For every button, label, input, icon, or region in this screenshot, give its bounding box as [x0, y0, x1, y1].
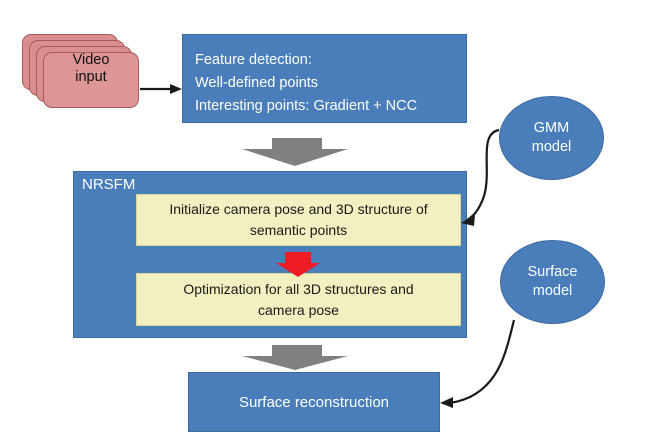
- surface-model-line2: model: [528, 282, 578, 301]
- connector-nrsfm-to-surface-reconstruction: [242, 345, 348, 370]
- optimization-step-line2: camera pose: [173, 300, 423, 321]
- optimization-step-box: Optimization for all 3D structures and c…: [136, 273, 461, 326]
- surface-reconstruction-label: Surface reconstruction: [189, 373, 439, 431]
- surface-model-line1: Surface: [528, 263, 578, 282]
- connector-video-to-feature: [140, 84, 182, 94]
- feature-detection-box: Feature detection: Well-defined points I…: [182, 34, 467, 123]
- gmm-model-line1: GMM: [532, 119, 572, 138]
- feature-detection-line1: Feature detection:: [195, 49, 460, 72]
- video-input-label-line2: input: [43, 69, 139, 86]
- initialize-step-text: Initialize camera pose and 3D structure …: [149, 199, 447, 241]
- gmm-model-line2: model: [532, 138, 572, 157]
- surface-reconstruction-box: Surface reconstruction: [188, 372, 440, 432]
- feature-detection-line2: Well-defined points: [195, 72, 460, 95]
- video-input-label: Video input: [43, 52, 139, 86]
- gmm-model-label: GMM model: [532, 119, 572, 157]
- initialize-step-line1: Initialize camera pose and 3D structure …: [159, 199, 437, 220]
- feature-detection-text: Feature detection: Well-defined points I…: [195, 49, 460, 118]
- gmm-model-ellipse: GMM model: [499, 96, 604, 180]
- nrsfm-container-label: NRSFM: [82, 176, 135, 193]
- feature-detection-line3: Interesting points: Gradient + NCC: [195, 95, 460, 118]
- surface-model-label: Surface model: [528, 263, 578, 301]
- initialize-step-line2: semantic points: [159, 220, 437, 241]
- surface-model-ellipse: Surface model: [500, 240, 605, 324]
- video-input-label-line1: Video: [43, 52, 139, 69]
- initialize-step-box: Initialize camera pose and 3D structure …: [136, 194, 461, 246]
- connector-feature-to-nrsfm: [242, 138, 348, 166]
- optimization-step-text: Optimization for all 3D structures and c…: [163, 279, 433, 321]
- optimization-step-line1: Optimization for all 3D structures and: [173, 279, 423, 300]
- pipeline-diagram: Video input Feature detection: Well-defi…: [0, 0, 648, 448]
